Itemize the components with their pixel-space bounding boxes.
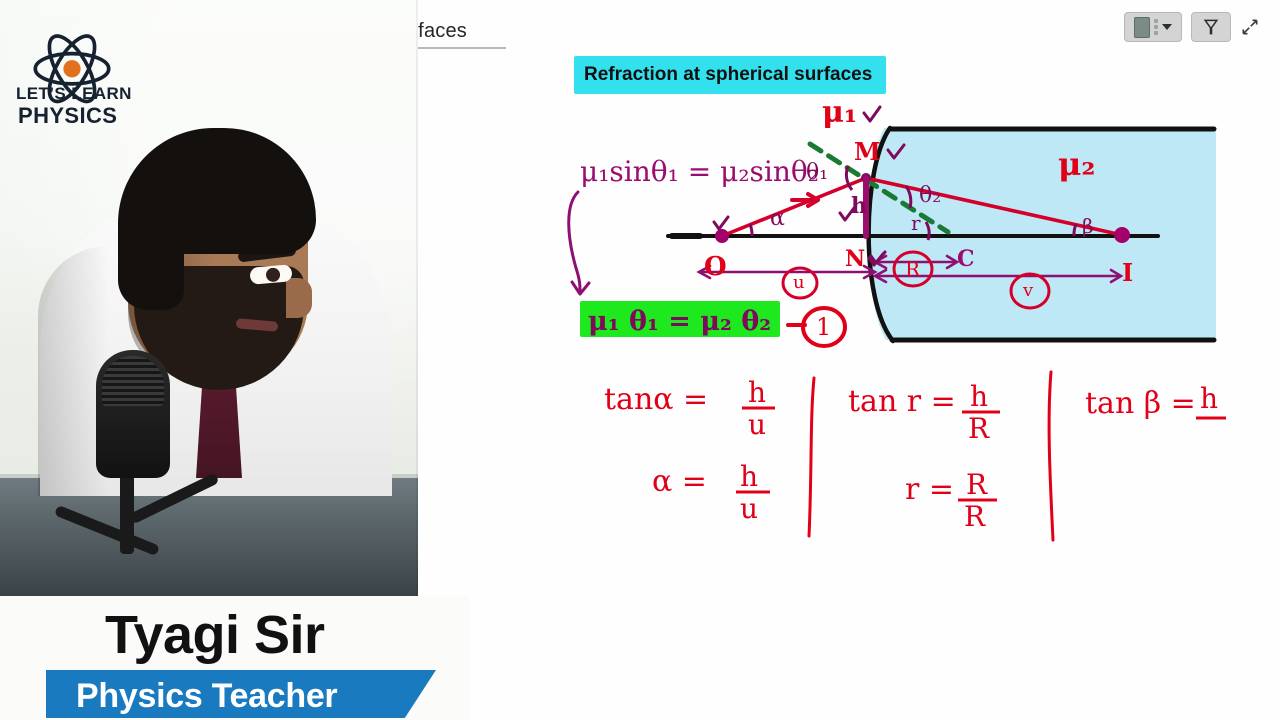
eq1-line2: α = xyxy=(652,464,707,499)
object-point-dot xyxy=(715,229,729,243)
eq1-den2: u xyxy=(740,492,758,525)
toolbar xyxy=(1124,12,1260,42)
label-r-angle: r xyxy=(911,211,921,235)
tick-mark-icon-4 xyxy=(888,145,904,158)
eq1-line1: tanα = xyxy=(604,382,708,417)
distance-R-left-arrow-icon xyxy=(875,256,886,268)
eq3-line1: tan β = xyxy=(1085,386,1196,421)
derivation-arrow-head-icon xyxy=(572,282,589,294)
presenter-role: Physics Teacher xyxy=(76,677,337,716)
incident-ray-arrow-icon xyxy=(792,194,818,206)
equation-number-text: 1 xyxy=(816,313,831,341)
equation-divider-1 xyxy=(809,378,814,536)
highlighter-pen-icon xyxy=(1201,17,1221,37)
eq3-num1: h xyxy=(1200,382,1218,415)
label-point-C: C xyxy=(957,246,975,272)
point-M-dot xyxy=(861,173,871,183)
label-height-h: h xyxy=(851,193,867,219)
eq1-num2: h xyxy=(740,460,758,493)
whiteboard-canvas: urfaces Refraction at spherical surfaces xyxy=(0,0,1280,720)
label-theta1: θ₁ xyxy=(806,160,828,185)
angle-alpha-arc xyxy=(750,224,752,236)
label-distance-v: v xyxy=(1023,280,1033,301)
tick-mark-icon-6 xyxy=(869,254,883,265)
eq2-num1: h xyxy=(970,380,988,413)
eq2-num2: R xyxy=(966,468,987,501)
tick-mark-icon-5 xyxy=(871,252,885,263)
eq1-den1: u xyxy=(748,408,766,441)
label-point-M: M xyxy=(854,137,881,166)
tick-mark-icon-1 xyxy=(714,217,728,229)
label-distance-R: R xyxy=(905,257,920,281)
board-heading-text: Refraction at spherical surfaces xyxy=(584,64,872,86)
snell-law-text: μ₁sinθ₁ = μ₂sinθ₂ xyxy=(580,155,819,188)
expand-icon[interactable] xyxy=(1240,17,1260,37)
label-mu1: μ₁ xyxy=(822,95,857,130)
label-distance-u: u xyxy=(793,272,805,293)
label-theta2: θ₂ xyxy=(919,183,941,208)
board-heading: Refraction at spherical surfaces xyxy=(574,56,862,78)
distance-v-right-arrow-icon xyxy=(1111,270,1121,282)
eq2-line1: tan r = xyxy=(848,384,956,419)
pen-color-swatch-icon xyxy=(1134,17,1150,38)
label-point-O: O xyxy=(704,252,727,282)
label-mu2: μ₂ xyxy=(1058,145,1095,183)
eq2-line2: r = xyxy=(905,472,954,507)
label-alpha: α xyxy=(770,206,785,231)
eq2-den2: R xyxy=(964,500,985,533)
pen-color-button[interactable] xyxy=(1124,12,1182,42)
highlighter-button[interactable] xyxy=(1191,12,1231,42)
derivation-arrow xyxy=(569,192,580,292)
webcam-border xyxy=(0,0,418,596)
distance-v-left-arrow-icon xyxy=(875,270,886,282)
tick-mark-icon-3 xyxy=(864,107,880,121)
paraxial-eq-text: μ₁ θ₁ = μ₂ θ₂ xyxy=(588,306,771,337)
angle-beta-arc xyxy=(1074,224,1076,236)
pen-color-palette-icon xyxy=(1154,18,1158,37)
angle-theta2-arc xyxy=(906,186,911,208)
angle-r-arc xyxy=(926,222,929,240)
chevron-down-icon[interactable] xyxy=(1162,24,1172,30)
label-point-I: I xyxy=(1122,258,1133,287)
label-beta: β xyxy=(1082,214,1094,238)
image-point-dot xyxy=(1114,227,1130,243)
equation-divider-2 xyxy=(1049,372,1053,540)
eq2-den1: R xyxy=(968,412,989,445)
label-point-N: N xyxy=(845,246,865,272)
angle-theta1-arc xyxy=(846,166,852,190)
distance-R-right-arrow-icon xyxy=(947,256,957,268)
page-title-underline xyxy=(404,47,506,49)
distance-u-right-arrow-icon xyxy=(864,266,875,278)
presenter-name: Tyagi Sir xyxy=(105,604,325,666)
eq1-num1: h xyxy=(748,376,766,409)
presenter-webcam: LET’S LEARN PHYSICS xyxy=(0,0,418,596)
